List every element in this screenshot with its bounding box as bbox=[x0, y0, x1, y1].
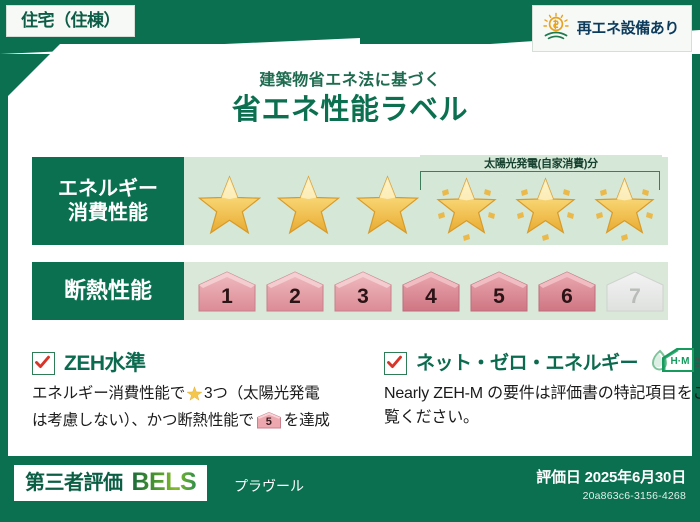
insulation-grade-4: 4 bbox=[400, 269, 462, 313]
energy-performance-row: エネルギー 消費性能 bbox=[32, 157, 668, 245]
insulation-row-heading: 断熱性能 bbox=[32, 262, 184, 320]
zeh-note-text-1: エネルギー消費性能で bbox=[32, 385, 185, 402]
insulation-grade-4-value: 4 bbox=[425, 286, 437, 313]
zeh-standard-note: ZEH水準 エネルギー消費性能で3つ（太陽光発電は考慮しない）、かつ断熱性能で5… bbox=[32, 350, 362, 450]
renewable-badge-label: 再エネ設備あり bbox=[577, 21, 679, 36]
zeh-note-title: ZEH水準 bbox=[64, 353, 146, 374]
insulation-grade-2-value: 2 bbox=[289, 286, 301, 313]
insulation-grade-7: 7 bbox=[604, 269, 666, 313]
zeh-note-body: エネルギー消費性能で3つ（太陽光発電は考慮しない）、かつ断熱性能で5を達成 bbox=[32, 382, 362, 432]
insulation-grade-6: 6 bbox=[536, 269, 598, 313]
building-type-chip: 住宅（住棟） bbox=[6, 5, 135, 37]
insulation-grade-7-value: 7 bbox=[629, 286, 641, 313]
notes-section: ZEH水準 エネルギー消費性能で3つ（太陽光発電は考慮しない）、かつ断熱性能で5… bbox=[32, 350, 668, 450]
evaluation-info: 評価日 2025年6月30日 20a863c6-3156-4268 bbox=[536, 466, 686, 502]
evaluation-id: 20a863c6-3156-4268 bbox=[536, 490, 686, 502]
renewable-equipment-badge: 再エネ設備あり bbox=[532, 5, 692, 52]
zeh-note-text-4: を達成 bbox=[284, 412, 330, 429]
logo-sub-line2: ZEH-M bbox=[695, 363, 700, 369]
energy-row-body: 太陽光発電(自家消費)分 bbox=[184, 157, 668, 245]
insulation-heading-label: 断熱性能 bbox=[64, 278, 152, 305]
nearly-zeh-m-logo-icon: H·M Nearly ZEH-M bbox=[651, 345, 700, 382]
third-party-label: 第三者評価 bbox=[25, 473, 123, 493]
zeh-checkbox-checked-icon bbox=[32, 352, 55, 375]
building-type-label: 住宅（住棟） bbox=[21, 11, 120, 30]
zeh-note-header: ZEH水準 bbox=[32, 350, 362, 376]
insulation-row-body: 1 2 3 bbox=[184, 262, 668, 320]
insulation-grade-5-value: 5 bbox=[493, 286, 505, 313]
insulation-grade-scale: 1 2 3 bbox=[184, 269, 666, 313]
star-3 bbox=[348, 157, 427, 245]
insulation-grade-5: 5 bbox=[468, 269, 530, 313]
sun-renewable-icon bbox=[541, 11, 571, 46]
insulation-grade-3: 3 bbox=[332, 269, 394, 313]
zeh-note-text-3: は考慮しない）、かつ断熱性能で bbox=[32, 412, 254, 429]
inline-star-icon bbox=[186, 384, 203, 409]
star-1 bbox=[190, 157, 269, 245]
insulation-performance-row: 断熱性能 bbox=[32, 262, 668, 320]
nze-note-body: Nearly ZEH-M の要件は評価書の特記項目をご覧ください。 bbox=[384, 382, 700, 430]
insulation-grade-6-value: 6 bbox=[561, 286, 573, 313]
bels-logo-text: BELS bbox=[132, 470, 197, 495]
energy-heading-line1: エネルギー bbox=[58, 177, 158, 201]
insulation-grade-2: 2 bbox=[264, 269, 326, 313]
footer: 第三者評価 BELS プラヴール 評価日 2025年6月30日 20a863c6… bbox=[0, 456, 700, 522]
label-title: 省エネ性能ラベル bbox=[0, 86, 700, 128]
nze-note-header: ネット・ゼロ・エネルギー H·M Nearly ZEH-M bbox=[384, 350, 700, 376]
solar-bracket-label: 太陽光発電(自家消費)分 bbox=[420, 155, 662, 171]
inline-grade-value: 5 bbox=[256, 411, 282, 429]
energy-heading-line2: 消費性能 bbox=[68, 201, 148, 225]
nze-note-title: ネット・ゼロ・エネルギー bbox=[416, 354, 638, 373]
svg-text:H·M: H·M bbox=[671, 356, 690, 367]
evaluation-date: 評価日 2025年6月30日 bbox=[536, 466, 686, 487]
star-2 bbox=[269, 157, 348, 245]
inline-grade-badge: 5 bbox=[256, 411, 282, 429]
bels-energy-performance-label: 住宅（住棟） 再エネ設備あり bbox=[0, 0, 700, 522]
net-zero-energy-note: ネット・ゼロ・エネルギー H·M Nearly ZEH-M Nearly ZEH… bbox=[362, 350, 700, 450]
energy-row-heading: エネルギー 消費性能 bbox=[32, 157, 184, 245]
insulation-grade-1-value: 1 bbox=[221, 286, 233, 313]
brand-name: プラヴール bbox=[234, 476, 304, 496]
insulation-grade-3-value: 3 bbox=[357, 286, 369, 313]
insulation-grade-1: 1 bbox=[196, 269, 258, 313]
bels-certification-box: 第三者評価 BELS bbox=[14, 465, 207, 501]
zeh-note-text-2: 3つ（太陽光発電 bbox=[204, 385, 320, 402]
solar-bracket bbox=[420, 171, 660, 190]
nze-checkbox-checked-icon bbox=[384, 352, 407, 375]
